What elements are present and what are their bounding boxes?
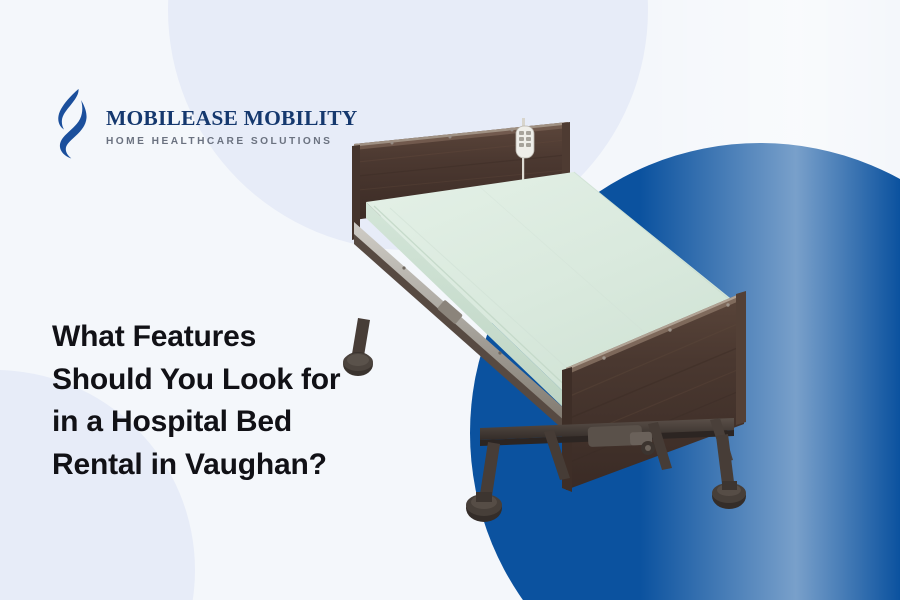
caster-wheel-right	[712, 481, 746, 509]
hospital-bed-photo	[330, 110, 870, 530]
logo-tagline: HOME HEALTHCARE SOLUTIONS	[106, 136, 358, 147]
logo-text-block: MOBILEASE MOBILITY HOME HEALTHCARE SOLUT…	[106, 101, 358, 148]
flame-droplet-logo-icon	[48, 88, 94, 160]
logo-company-name: MOBILEASE MOBILITY	[106, 107, 358, 130]
brand-logo[interactable]: MOBILEASE MOBILITY HOME HEALTHCARE SOLUT…	[48, 88, 358, 160]
caster-wheels	[466, 492, 502, 522]
hero-banner: MOBILEASE MOBILITY HOME HEALTHCARE SOLUT…	[0, 0, 900, 600]
